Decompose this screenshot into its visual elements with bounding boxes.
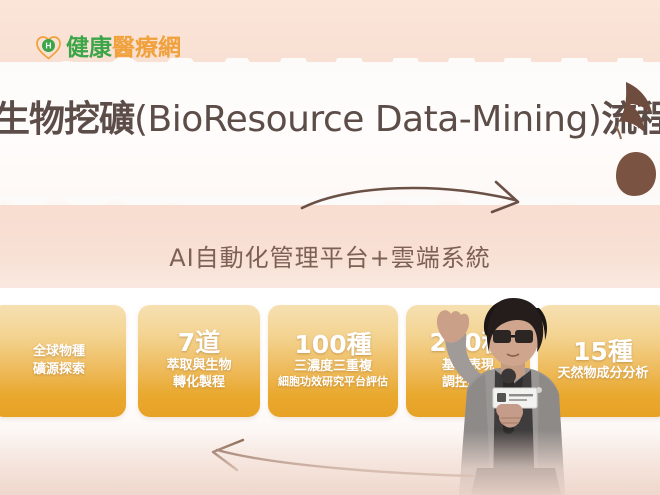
- card-3-line1: 三濃度三重複: [294, 358, 372, 376]
- logo-text-orange: 醫療網: [112, 35, 181, 61]
- svg-text:H: H: [45, 41, 51, 51]
- floor-gradient: [0, 430, 660, 495]
- slide-title: 生物挖礦(BioResource Data-Mining)流程: [0, 100, 634, 140]
- leaf-decoration-icon: [596, 78, 658, 196]
- heart-h-icon: H: [36, 36, 61, 60]
- flow-arrow-right-icon: [300, 178, 550, 224]
- title-lead-cjk: 生物挖礦: [0, 99, 134, 140]
- title-latin: (BioResource Data-Mining): [134, 99, 601, 140]
- process-card-1[interactable]: 全球物種 礦源探索: [0, 305, 126, 417]
- slide-subtitle: AI自動化管理平台+雲端系統: [0, 238, 660, 273]
- logo-text-green: 健康: [66, 35, 112, 61]
- process-card-3[interactable]: 100種 三濃度三重複 細胞功效研究平台評估: [268, 305, 398, 417]
- card-1-line1: 全球物種: [33, 343, 85, 361]
- card-3-big: 100種: [294, 332, 371, 358]
- card-2-big: 7道: [178, 330, 220, 356]
- slide-stage: H 健康醫療網 生物挖礦(BioResource Data-Mining)流程 …: [0, 0, 660, 495]
- process-card-2[interactable]: 7道 萃取與生物 轉化製程: [138, 305, 260, 417]
- card-2-line2: 轉化製程: [173, 374, 225, 392]
- card-2-line1: 萃取與生物: [166, 357, 231, 375]
- card-3-line2: 細胞功效研究平台評估: [278, 375, 388, 390]
- brand-logo: H 健康醫療網: [36, 36, 181, 60]
- card-1-line2: 礦源探索: [33, 361, 85, 379]
